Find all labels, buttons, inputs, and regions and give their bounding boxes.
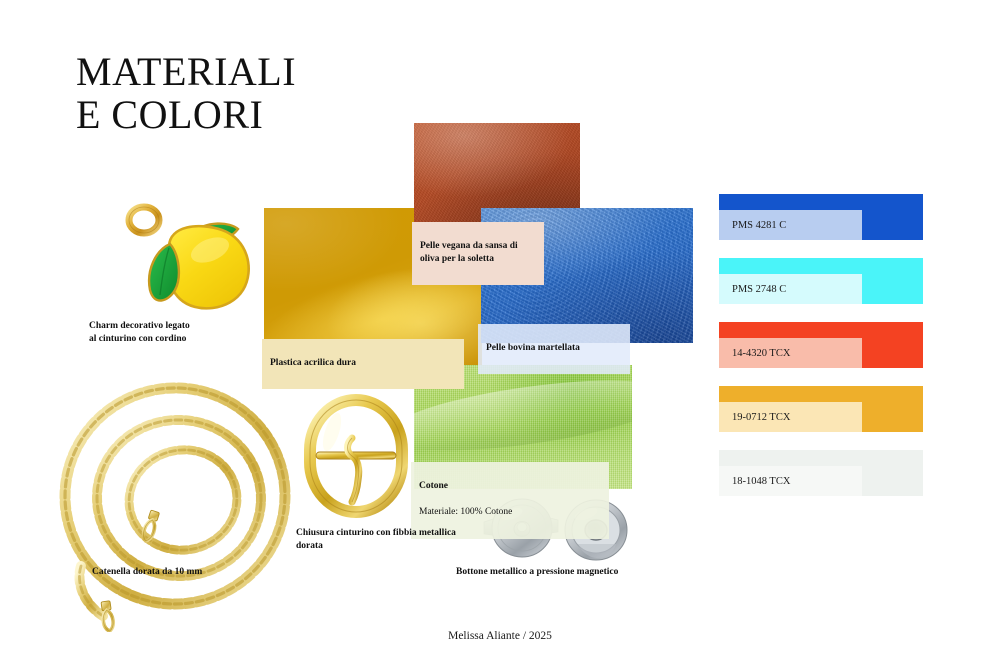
color-swatch-label-3: 14-4320 TCX xyxy=(719,348,790,359)
caption-belt-buckle: Chiusura cinturino con fibbia metallica … xyxy=(296,527,486,553)
material-label-cotton-title: Cotone xyxy=(419,480,601,493)
color-swatch-label-1: PMS 4281 C xyxy=(719,220,786,231)
gold-chain-icon xyxy=(55,370,315,632)
gold-buckle-icon xyxy=(302,392,410,520)
color-swatch-plate-1: PMS 4281 C xyxy=(719,210,862,240)
page-title: MATERIALI E COLORI xyxy=(76,50,296,136)
material-label-bovine-leather-text: Pelle bovina martellata xyxy=(486,342,622,355)
color-swatch-row[interactable]: PMS 2748 C xyxy=(719,258,923,304)
belt-buckle-image xyxy=(302,392,410,520)
material-label-acrylic-plastic-text: Plastica acrilica dura xyxy=(270,357,456,370)
color-swatch-panel: PMS 4281 C PMS 2748 C 14-4320 TCX 19-071… xyxy=(719,194,923,514)
lemon-charm-icon xyxy=(112,198,272,316)
color-swatch-plate-3: 14-4320 TCX xyxy=(719,338,862,368)
color-swatch-row[interactable]: 19-0712 TCX xyxy=(719,386,923,432)
color-swatch-label-4: 19-0712 TCX xyxy=(719,412,790,423)
material-label-bovine-leather: Pelle bovina martellata xyxy=(478,324,630,374)
color-swatch-row[interactable]: 14-4320 TCX xyxy=(719,322,923,368)
material-label-acrylic-plastic: Plastica acrilica dura xyxy=(262,339,464,389)
material-label-vegan-leather: Pelle vegana da sansa di oliva per la so… xyxy=(412,222,544,285)
color-swatch-label-2: PMS 2748 C xyxy=(719,284,786,295)
lemon-charm-image xyxy=(112,198,272,316)
color-swatch-row[interactable]: PMS 4281 C xyxy=(719,194,923,240)
caption-magnetic-snap: Bottone metallico a pressione magnetico xyxy=(456,566,676,579)
material-label-vegan-leather-text: Pelle vegana da sansa di oliva per la so… xyxy=(420,240,536,266)
color-swatch-plate-4: 19-0712 TCX xyxy=(719,402,862,432)
color-swatch-row[interactable]: 18-1048 TCX xyxy=(719,450,923,496)
caption-lemon-charm: Charm decorativo legato al cinturino con… xyxy=(89,320,269,346)
gold-chain-image xyxy=(55,370,315,632)
chain-clasp-icon xyxy=(141,510,160,542)
color-swatch-plate-5: 18-1048 TCX xyxy=(719,466,862,496)
material-label-cotton-subtitle: Materiale: 100% Cotone xyxy=(419,506,601,519)
color-swatch-plate-2: PMS 2748 C xyxy=(719,274,862,304)
color-swatch-label-5: 18-1048 TCX xyxy=(719,476,790,487)
caption-gold-chain: Catenella dorata da 10 mm xyxy=(92,566,312,579)
